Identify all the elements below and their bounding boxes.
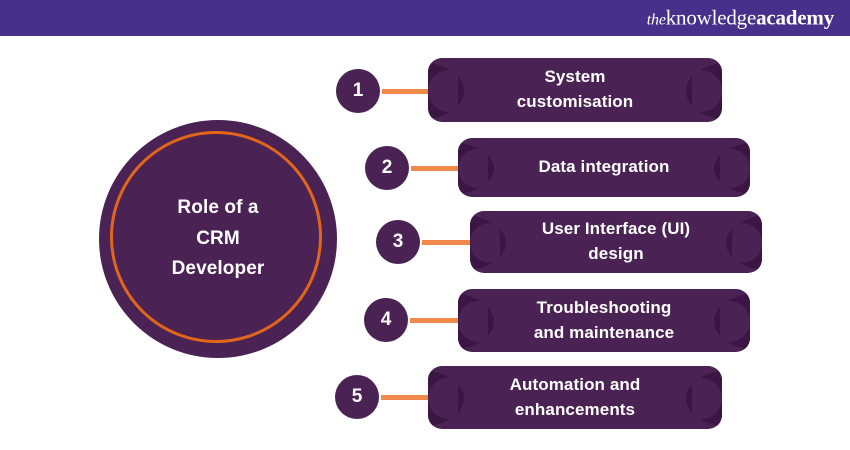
box-swirl-left-icon <box>458 142 494 195</box>
item-label-3-line-2: design <box>542 242 690 267</box>
box-swirl-right-icon <box>686 62 722 120</box>
box-swirl-left-icon <box>458 293 494 350</box>
box-swirl-right-icon <box>714 142 750 195</box>
item-badge-2[interactable]: 2 <box>365 146 409 190</box>
box-swirl-right-icon <box>714 293 750 350</box>
item-number-2: 2 <box>382 157 393 179</box>
item-badge-1[interactable]: 1 <box>336 69 380 113</box>
item-number-3: 3 <box>393 231 404 253</box>
item-number-1: 1 <box>353 80 364 102</box>
item-label-5-line-2: enhancements <box>510 398 641 423</box>
item-label-5-line-1: Automation and <box>510 373 641 398</box>
central-circle-title: Role of a CRM Developer <box>128 193 308 285</box>
item-badge-3[interactable]: 3 <box>376 220 420 264</box>
item-box-3[interactable]: User Interface (UI) design <box>470 211 762 273</box>
brand-logo: theknowledgeacademy <box>647 6 834 31</box>
brand-academy-text: academy <box>756 6 834 30</box>
item-box-2[interactable]: Data integration <box>458 138 750 197</box>
item-badge-5[interactable]: 5 <box>335 375 379 419</box>
item-label-3-line-1: User Interface (UI) <box>542 217 690 242</box>
item-label-4-line-2: and maintenance <box>534 321 674 346</box>
item-label-5: Automation and enhancements <box>496 373 655 422</box>
item-box-1[interactable]: System customisation <box>428 58 722 122</box>
item-label-1-line-2: customisation <box>517 90 634 115</box>
connector-line-5 <box>381 395 433 400</box>
item-badge-4[interactable]: 4 <box>364 298 408 342</box>
infographic-canvas: theknowledgeacademy Role of a CRM Develo… <box>0 0 850 450</box>
item-label-3: User Interface (UI) design <box>528 217 704 266</box>
header-bar: theknowledgeacademy <box>0 0 850 36</box>
item-label-4-line-1: Troubleshooting <box>534 296 674 321</box>
central-title-line-1: Role of a <box>128 193 308 224</box>
item-label-1: System customisation <box>503 65 648 114</box>
item-label-2-line-1: Data integration <box>538 155 669 180</box>
connector-line-4 <box>410 318 464 323</box>
connector-line-1 <box>382 89 434 94</box>
item-label-1-line-1: System <box>517 65 634 90</box>
box-swirl-left-icon <box>428 370 464 427</box>
central-circle: Role of a CRM Developer <box>99 120 337 358</box>
central-title-line-2: CRM <box>128 224 308 255</box>
connector-line-3 <box>422 240 476 245</box>
item-box-4[interactable]: Troubleshooting and maintenance <box>458 289 750 352</box>
connector-line-2 <box>411 166 463 171</box>
item-number-5: 5 <box>352 386 363 408</box>
box-swirl-left-icon <box>428 62 464 120</box>
box-swirl-left-icon <box>470 215 506 271</box>
box-swirl-right-icon <box>726 215 762 271</box>
central-title-line-3: Developer <box>128 254 308 285</box>
brand-knowledge-text: knowledge <box>666 6 756 30</box>
item-number-4: 4 <box>381 309 392 331</box>
box-swirl-right-icon <box>686 370 722 427</box>
item-label-4: Troubleshooting and maintenance <box>520 296 688 345</box>
item-box-5[interactable]: Automation and enhancements <box>428 366 722 429</box>
item-label-2: Data integration <box>524 155 683 180</box>
brand-the-text: the <box>647 12 666 29</box>
